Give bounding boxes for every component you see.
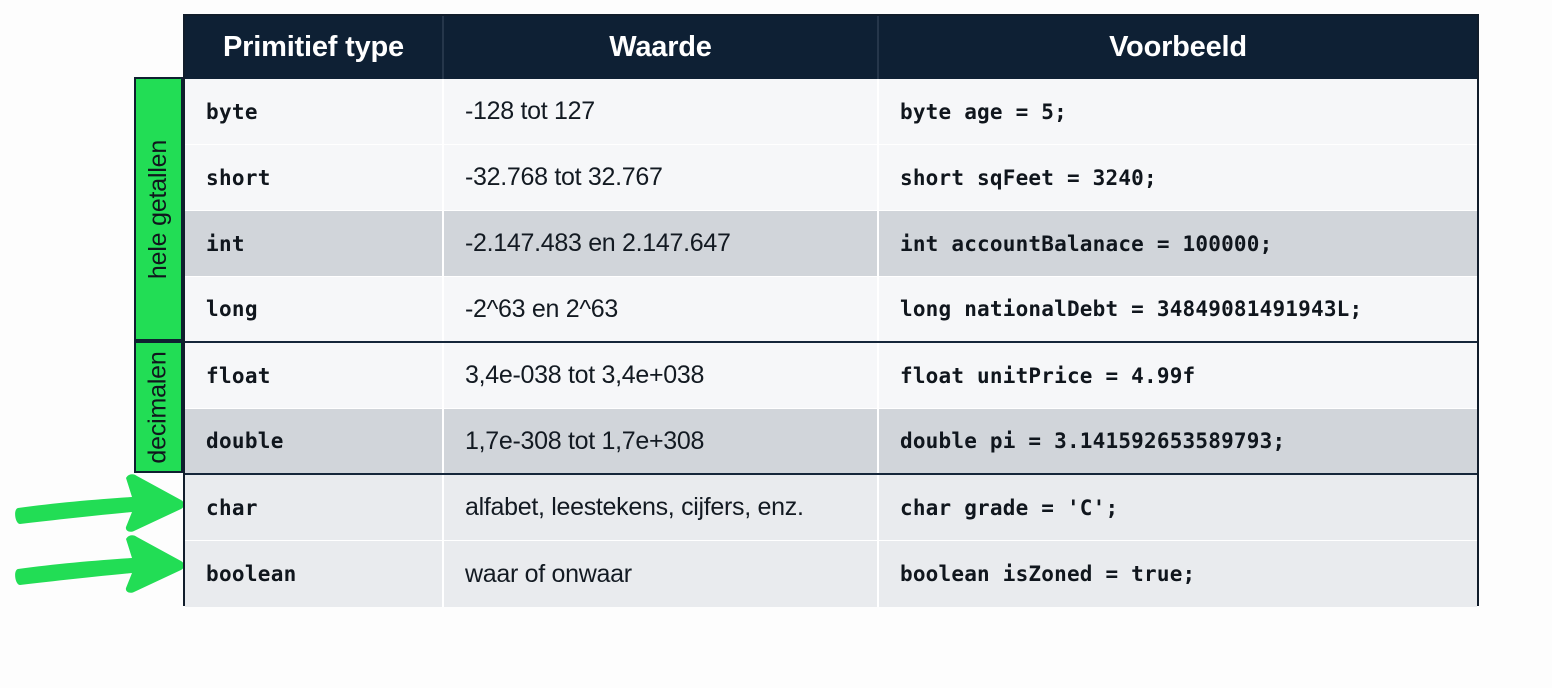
cell-type: boolean	[185, 541, 444, 607]
cell-example: int accountBalanace = 100000;	[879, 211, 1477, 276]
table-body: byte -128 tot 127 byte age = 5; short -3…	[185, 79, 1477, 607]
cell-type: int	[185, 211, 444, 276]
table-header-row: Primitief type Waarde Voorbeeld	[185, 16, 1477, 79]
cell-type: char	[185, 475, 444, 540]
cell-value: -128 tot 127	[444, 79, 879, 144]
column-header-primitief-type: Primitief type	[185, 16, 444, 79]
cell-value: 1,7e-308 tot 1,7e+308	[444, 409, 879, 473]
cell-example: double pi = 3.141592653589793;	[879, 409, 1477, 473]
group-label-decimalen: decimalen	[134, 341, 183, 473]
table-row: long -2^63 en 2^63 long nationalDebt = 3…	[185, 277, 1477, 343]
table-row: byte -128 tot 127 byte age = 5;	[185, 79, 1477, 145]
cell-type: double	[185, 409, 444, 473]
cell-value: 3,4e-038 tot 3,4e+038	[444, 343, 879, 408]
table-row: char alfabet, leestekens, cijfers, enz. …	[185, 475, 1477, 541]
cell-value: waar of onwaar	[444, 541, 879, 607]
cell-type: float	[185, 343, 444, 408]
primitive-types-table: Primitief type Waarde Voorbeeld byte -12…	[183, 14, 1479, 606]
cell-type: short	[185, 145, 444, 210]
group-label-text: decimalen	[144, 351, 173, 463]
table-row: boolean waar of onwaar boolean isZoned =…	[185, 541, 1477, 607]
table-row: int -2.147.483 en 2.147.647 int accountB…	[185, 211, 1477, 277]
cell-example: char grade = 'C';	[879, 475, 1477, 540]
table-row: double 1,7e-308 tot 1,7e+308 double pi =…	[185, 409, 1477, 475]
cell-example: float unitPrice = 4.99f	[879, 343, 1477, 408]
cell-type: long	[185, 277, 444, 341]
cell-example: long nationalDebt = 34849081491943L;	[879, 277, 1477, 341]
cell-example: short sqFeet = 3240;	[879, 145, 1477, 210]
cell-value: -32.768 tot 32.767	[444, 145, 879, 210]
column-header-voorbeeld: Voorbeeld	[879, 16, 1477, 79]
arrow-right-icon	[14, 533, 186, 595]
cell-value: -2.147.483 en 2.147.647	[444, 211, 879, 276]
group-label-text: hele getallen	[144, 139, 173, 278]
group-label-hele-getallen: hele getallen	[134, 77, 183, 341]
table-row: short -32.768 tot 32.767 short sqFeet = …	[185, 145, 1477, 211]
cell-example: byte age = 5;	[879, 79, 1477, 144]
arrow-right-icon	[14, 472, 186, 534]
column-header-waarde: Waarde	[444, 16, 879, 79]
cell-type: byte	[185, 79, 444, 144]
slide-canvas: hele getallen decimalen Primitief type W…	[0, 0, 1552, 688]
cell-value: alfabet, leestekens, cijfers, enz.	[444, 475, 879, 540]
cell-example: boolean isZoned = true;	[879, 541, 1477, 607]
cell-value: -2^63 en 2^63	[444, 277, 879, 341]
table-row: float 3,4e-038 tot 3,4e+038 float unitPr…	[185, 343, 1477, 409]
